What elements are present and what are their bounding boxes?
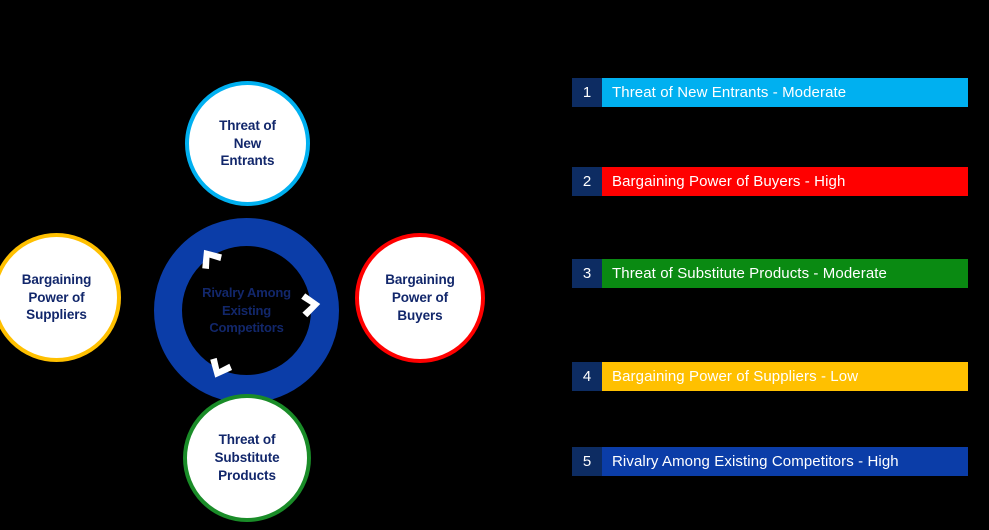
legend-label-2: Bargaining Power of Buyers - High	[602, 167, 968, 196]
legend-item-1[interactable]: 1 Threat of New Entrants - Moderate	[572, 78, 968, 107]
force-label-bargaining-power-of-buyers: Bargaining Power of Buyers	[379, 271, 461, 324]
legend-number-1: 1	[572, 78, 602, 107]
legend-number-2: 2	[572, 167, 602, 196]
legend-item-3[interactable]: 3 Threat of Substitute Products - Modera…	[572, 259, 968, 288]
legend-label-5: Rivalry Among Existing Competitors - Hig…	[602, 447, 968, 476]
force-node-threat-of-substitute-products[interactable]: Threat of Substitute Products	[183, 394, 311, 522]
legend-label-4: Bargaining Power of Suppliers - Low	[602, 362, 968, 391]
diagram-canvas: Rivalry Among Existing Competitors Threa…	[0, 0, 989, 530]
legend-number-3: 3	[572, 259, 602, 288]
legend-label-3: Threat of Substitute Products - Moderate	[602, 259, 968, 288]
legend-item-2[interactable]: 2 Bargaining Power of Buyers - High	[572, 167, 968, 196]
force-node-bargaining-power-of-suppliers[interactable]: Bargaining Power of Suppliers	[0, 233, 121, 362]
legend-item-4[interactable]: 4 Bargaining Power of Suppliers - Low	[572, 362, 968, 391]
force-label-threat-of-new-entrants: Threat of New Entrants	[213, 117, 282, 170]
legend-label-1: Threat of New Entrants - Moderate	[602, 78, 968, 107]
force-node-bargaining-power-of-buyers[interactable]: Bargaining Power of Buyers	[355, 233, 485, 363]
legend-number-4: 4	[572, 362, 602, 391]
force-node-threat-of-new-entrants[interactable]: Threat of New Entrants	[185, 81, 310, 206]
legend-item-5[interactable]: 5 Rivalry Among Existing Competitors - H…	[572, 447, 968, 476]
rivalry-ring-graphic	[154, 218, 339, 403]
legend-number-5: 5	[572, 447, 602, 476]
legend-list: 1 Threat of New Entrants - Moderate 2 Ba…	[572, 0, 968, 530]
rivalry-center-node[interactable]: Rivalry Among Existing Competitors	[154, 218, 339, 403]
force-label-threat-of-substitute-products: Threat of Substitute Products	[209, 431, 286, 484]
force-label-bargaining-power-of-suppliers: Bargaining Power of Suppliers	[16, 271, 98, 324]
